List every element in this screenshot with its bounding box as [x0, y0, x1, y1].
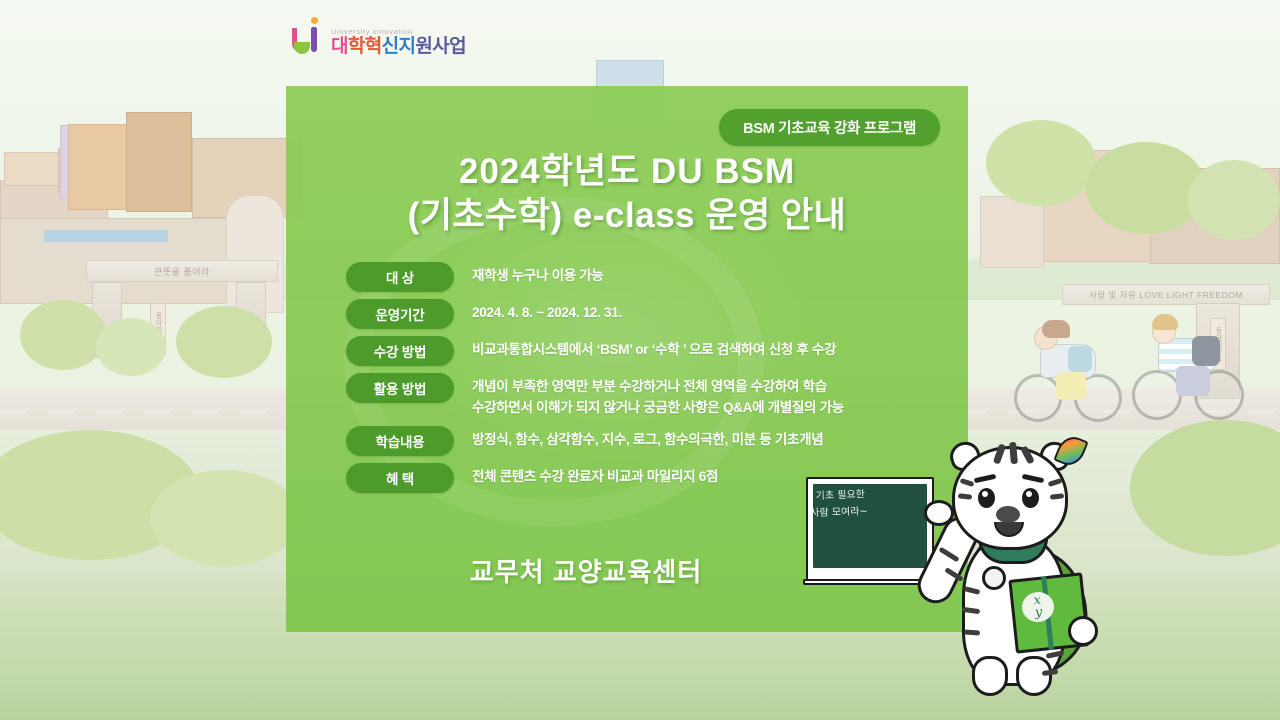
info-value-target: 재학생 누구나 이용 가능 [472, 262, 604, 287]
mascot-body-stripe [1042, 669, 1059, 676]
book-label-text: xy [1033, 594, 1043, 619]
info-value-line: 2024. 4. 8. ~ 2024. 12. 31. [472, 303, 622, 324]
tiger-mascot: xy [900, 440, 1130, 710]
page-title-line-1: 2024학년도 DU BSM [286, 150, 968, 194]
logo-dot-icon [311, 17, 318, 24]
tree-right-2 [1086, 142, 1206, 234]
mascot-nose [996, 506, 1020, 523]
info-value-line: 방정식, 함수, 삼각함수, 지수, 로그, 함수의극한, 미분 등 기초개념 [472, 430, 823, 451]
cyclist-hair [1152, 314, 1178, 330]
info-row-period: 운영기간 2024. 4. 8. ~ 2024. 12. 31. [346, 299, 946, 329]
bush-left-small [150, 470, 300, 566]
info-value-benefit: 전체 콘텐츠 수강 완료자 비교과 마일리지 6점 [472, 463, 718, 488]
cyclist-legs [1056, 372, 1086, 400]
bicycle-wheel [1014, 374, 1062, 422]
campus-building-center-c [126, 112, 192, 212]
tree-right-1 [986, 120, 1096, 206]
campus-building-right-c [980, 196, 1044, 268]
logo-green-shape [294, 42, 310, 54]
tree-left-2 [96, 318, 166, 376]
logo-kor-part-3: 신지 [382, 36, 416, 57]
footer-organization: 교무처 교양교육센터 [286, 552, 886, 589]
cyclist-legs [1176, 366, 1210, 396]
cyclist-backpack [1192, 336, 1220, 366]
logo-korean-text: 대학혁신지원사업 [331, 37, 466, 56]
campus-gate-sign-left: 큰뜻을 품어라 [86, 260, 278, 282]
page-title: 2024학년도 DU BSM (기초수학) e-class 운영 안내 [286, 150, 968, 238]
mascot-head-stripe [1009, 442, 1018, 465]
mascot-medal [982, 566, 1006, 590]
info-row-target: 대 상 재학생 누구나 이용 가능 [346, 262, 946, 292]
blackboard-line-1: 기초 필요한 [816, 489, 866, 502]
mascot-paw-holding-book [1068, 616, 1098, 646]
info-value-enrollment-method: 비교과통합시스템에서 ‘BSM’ or ‘수학 ’ 으로 검색하여 신청 후 수… [472, 336, 836, 361]
logo-english-text: University innovation [331, 28, 466, 36]
logo-kor-part-2: 학혁 [348, 36, 382, 57]
info-value-line: 개념이 부족한 영역만 부분 수강하거나 전체 영역을 수강하여 학습 [472, 377, 844, 398]
mascot-raised-paw [924, 500, 954, 526]
info-row-curriculum: 학습내용 방정식, 함수, 삼각함수, 지수, 로그, 함수의극한, 미분 등 … [346, 426, 946, 456]
mascot-leg-left [972, 656, 1008, 696]
page-title-line-2: (기초수학) e-class 운영 안내 [286, 194, 968, 238]
tree-right-3 [1188, 160, 1280, 240]
program-badge: BSM 기초교육 강화 프로그램 [719, 109, 940, 146]
info-value-line: 전체 콘텐츠 수강 완료자 비교과 마일리지 6점 [472, 467, 718, 488]
info-value-line: 비교과통합시스템에서 ‘BSM’ or ‘수학 ’ 으로 검색하여 신청 후 수… [472, 340, 836, 361]
logo-mark-icon [292, 16, 326, 56]
book-label-y: y [1034, 605, 1043, 621]
info-value-period: 2024. 4. 8. ~ 2024. 12. 31. [472, 299, 622, 324]
logo-text-group: University innovation 대학혁신지원사업 [331, 28, 466, 56]
info-label-usage-method: 활용 방법 [346, 373, 454, 403]
info-value-curriculum: 방정식, 함수, 삼각함수, 지수, 로그, 함수의극한, 미분 등 기초개념 [472, 426, 823, 451]
mascot-body-stripe [964, 629, 980, 635]
info-row-usage-method: 활용 방법 개념이 부족한 영역만 부분 수강하거나 전체 영역을 수강하여 학… [346, 373, 946, 419]
cyclist-front [1012, 318, 1132, 428]
info-label-benefit: 혜 택 [346, 463, 454, 493]
info-value-usage-method: 개념이 부족한 영역만 부분 수강하거나 전체 영역을 수강하여 학습 수강하면… [472, 373, 844, 419]
cyclist-hair [1042, 320, 1070, 338]
poster-canvas: 큰뜻을 품어라 동아대학교 사랑 빛 자유 LOVE LIGHT FREEDOM… [0, 0, 1280, 720]
info-value-line: 재학생 누구나 이용 가능 [472, 266, 604, 287]
campus-building-blue-strip [44, 230, 168, 242]
info-label-curriculum: 학습내용 [346, 426, 454, 456]
info-label-enrollment-method: 수강 방법 [346, 336, 454, 366]
tree-left-3 [176, 306, 272, 378]
tree-left-1 [20, 300, 106, 370]
mascot-eye-right [1022, 488, 1039, 508]
university-innovation-logo: University innovation 대학혁신지원사업 [292, 16, 466, 56]
mascot-eye-left [978, 488, 995, 508]
info-table: 대 상 재학생 누구나 이용 가능 운영기간 2024. 4. 8. ~ 202… [346, 262, 946, 500]
bicycle-wheel [1132, 370, 1182, 420]
logo-j-shape [311, 27, 317, 52]
logo-kor-part-4: 원사업 [415, 36, 466, 57]
cyclist-back [1130, 312, 1254, 426]
info-label-target: 대 상 [346, 262, 454, 292]
info-row-enrollment-method: 수강 방법 비교과통합시스템에서 ‘BSM’ or ‘수학 ’ 으로 검색하여 … [346, 336, 946, 366]
logo-kor-part-1: 대 [331, 36, 348, 57]
mascot-leg-right [1016, 656, 1052, 696]
cyclist-backpack [1068, 346, 1092, 372]
info-label-period: 운영기간 [346, 299, 454, 329]
info-value-line: 수강하면서 이해가 되지 않거나 궁금한 사항은 Q&A에 개별질의 가능 [472, 398, 844, 419]
campus-gate-sign-right: 사랑 빛 자유 LOVE LIGHT FREEDOM [1062, 284, 1270, 305]
